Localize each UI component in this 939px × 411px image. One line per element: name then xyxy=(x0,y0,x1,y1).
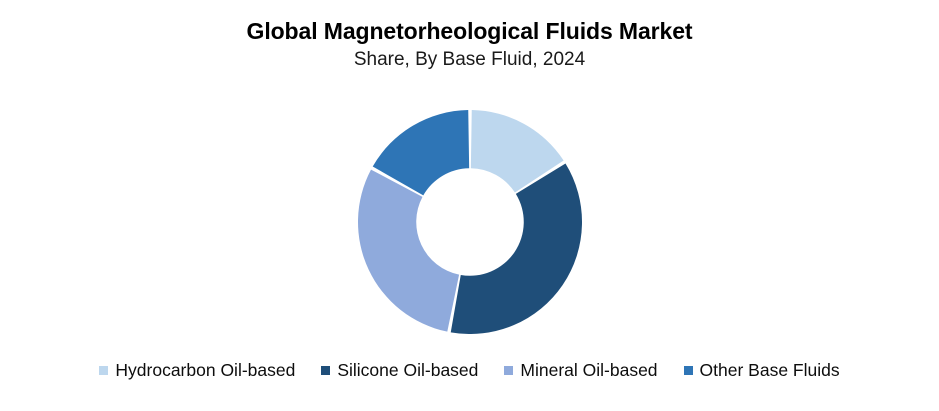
legend-swatch-icon xyxy=(321,366,330,375)
legend-item-label: Other Base Fluids xyxy=(700,362,840,380)
legend-item-label: Silicone Oil-based xyxy=(337,362,478,380)
legend-item[interactable]: Other Base Fluids xyxy=(684,362,840,380)
donut-slice-group xyxy=(358,110,582,334)
chart-header: Global Magnetorheological Fluids Market … xyxy=(0,18,939,72)
chart-title: Global Magnetorheological Fluids Market xyxy=(0,18,939,45)
donut-slice xyxy=(358,170,459,332)
legend-item-label: Mineral Oil-based xyxy=(520,362,657,380)
chart-figure: Global Magnetorheological Fluids Market … xyxy=(0,0,939,411)
legend-item[interactable]: Hydrocarbon Oil-based xyxy=(99,362,295,380)
legend-swatch-icon xyxy=(684,366,693,375)
legend-item[interactable]: Mineral Oil-based xyxy=(504,362,657,380)
donut-chart-svg xyxy=(358,110,582,334)
chart-subtitle: Share, By Base Fluid, 2024 xyxy=(0,49,939,72)
legend-item[interactable]: Silicone Oil-based xyxy=(321,362,478,380)
legend-item-label: Hydrocarbon Oil-based xyxy=(115,362,295,380)
donut-chart xyxy=(358,110,582,334)
legend-swatch-icon xyxy=(504,366,513,375)
legend-swatch-icon xyxy=(99,366,108,375)
chart-legend: Hydrocarbon Oil-basedSilicone Oil-basedM… xyxy=(0,362,939,380)
